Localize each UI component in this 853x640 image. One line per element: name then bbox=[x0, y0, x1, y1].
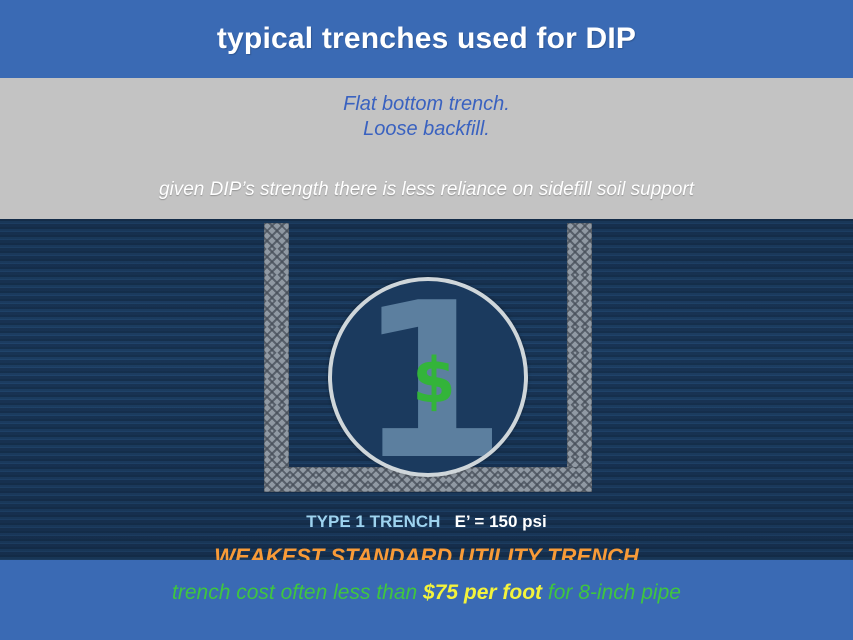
caption-band: Flat bottom trench. Loose backfill. give… bbox=[0, 78, 853, 219]
trench-type-caption: TYPE 1 TRENCH E’ = 150 psi bbox=[0, 512, 853, 532]
trench-description: Flat bottom trench. Loose backfill. bbox=[0, 92, 853, 142]
dollar-sign-icon: $ bbox=[332, 281, 528, 477]
page-title: typical trenches used for DIP bbox=[0, 0, 853, 78]
trench-description-line2: Loose backfill. bbox=[0, 117, 853, 142]
slide-canvas: typical trenches used for DIP Flat botto… bbox=[0, 0, 853, 640]
trench-type-label: TYPE 1 TRENCH bbox=[306, 512, 440, 531]
cost-value-text: $75 per foot bbox=[423, 581, 542, 604]
cost-suffix-text: for 8-inch pipe bbox=[542, 581, 681, 604]
trench-wall-left-hatch bbox=[264, 223, 289, 492]
soil-modulus-value: E’ = 150 psi bbox=[455, 512, 547, 531]
trench-description-line1: Flat bottom trench. bbox=[0, 92, 853, 117]
sidefill-note: given DIP’s strength there is less relia… bbox=[0, 179, 853, 201]
cost-prefix-text: trench cost often less than bbox=[172, 581, 423, 604]
caption-spacer bbox=[440, 512, 454, 531]
trench-type-badge: 1 $ bbox=[328, 277, 528, 477]
trench-cost-caption: trench cost often less than $75 per foot… bbox=[0, 581, 853, 605]
trench-wall-right-hatch bbox=[567, 223, 592, 492]
